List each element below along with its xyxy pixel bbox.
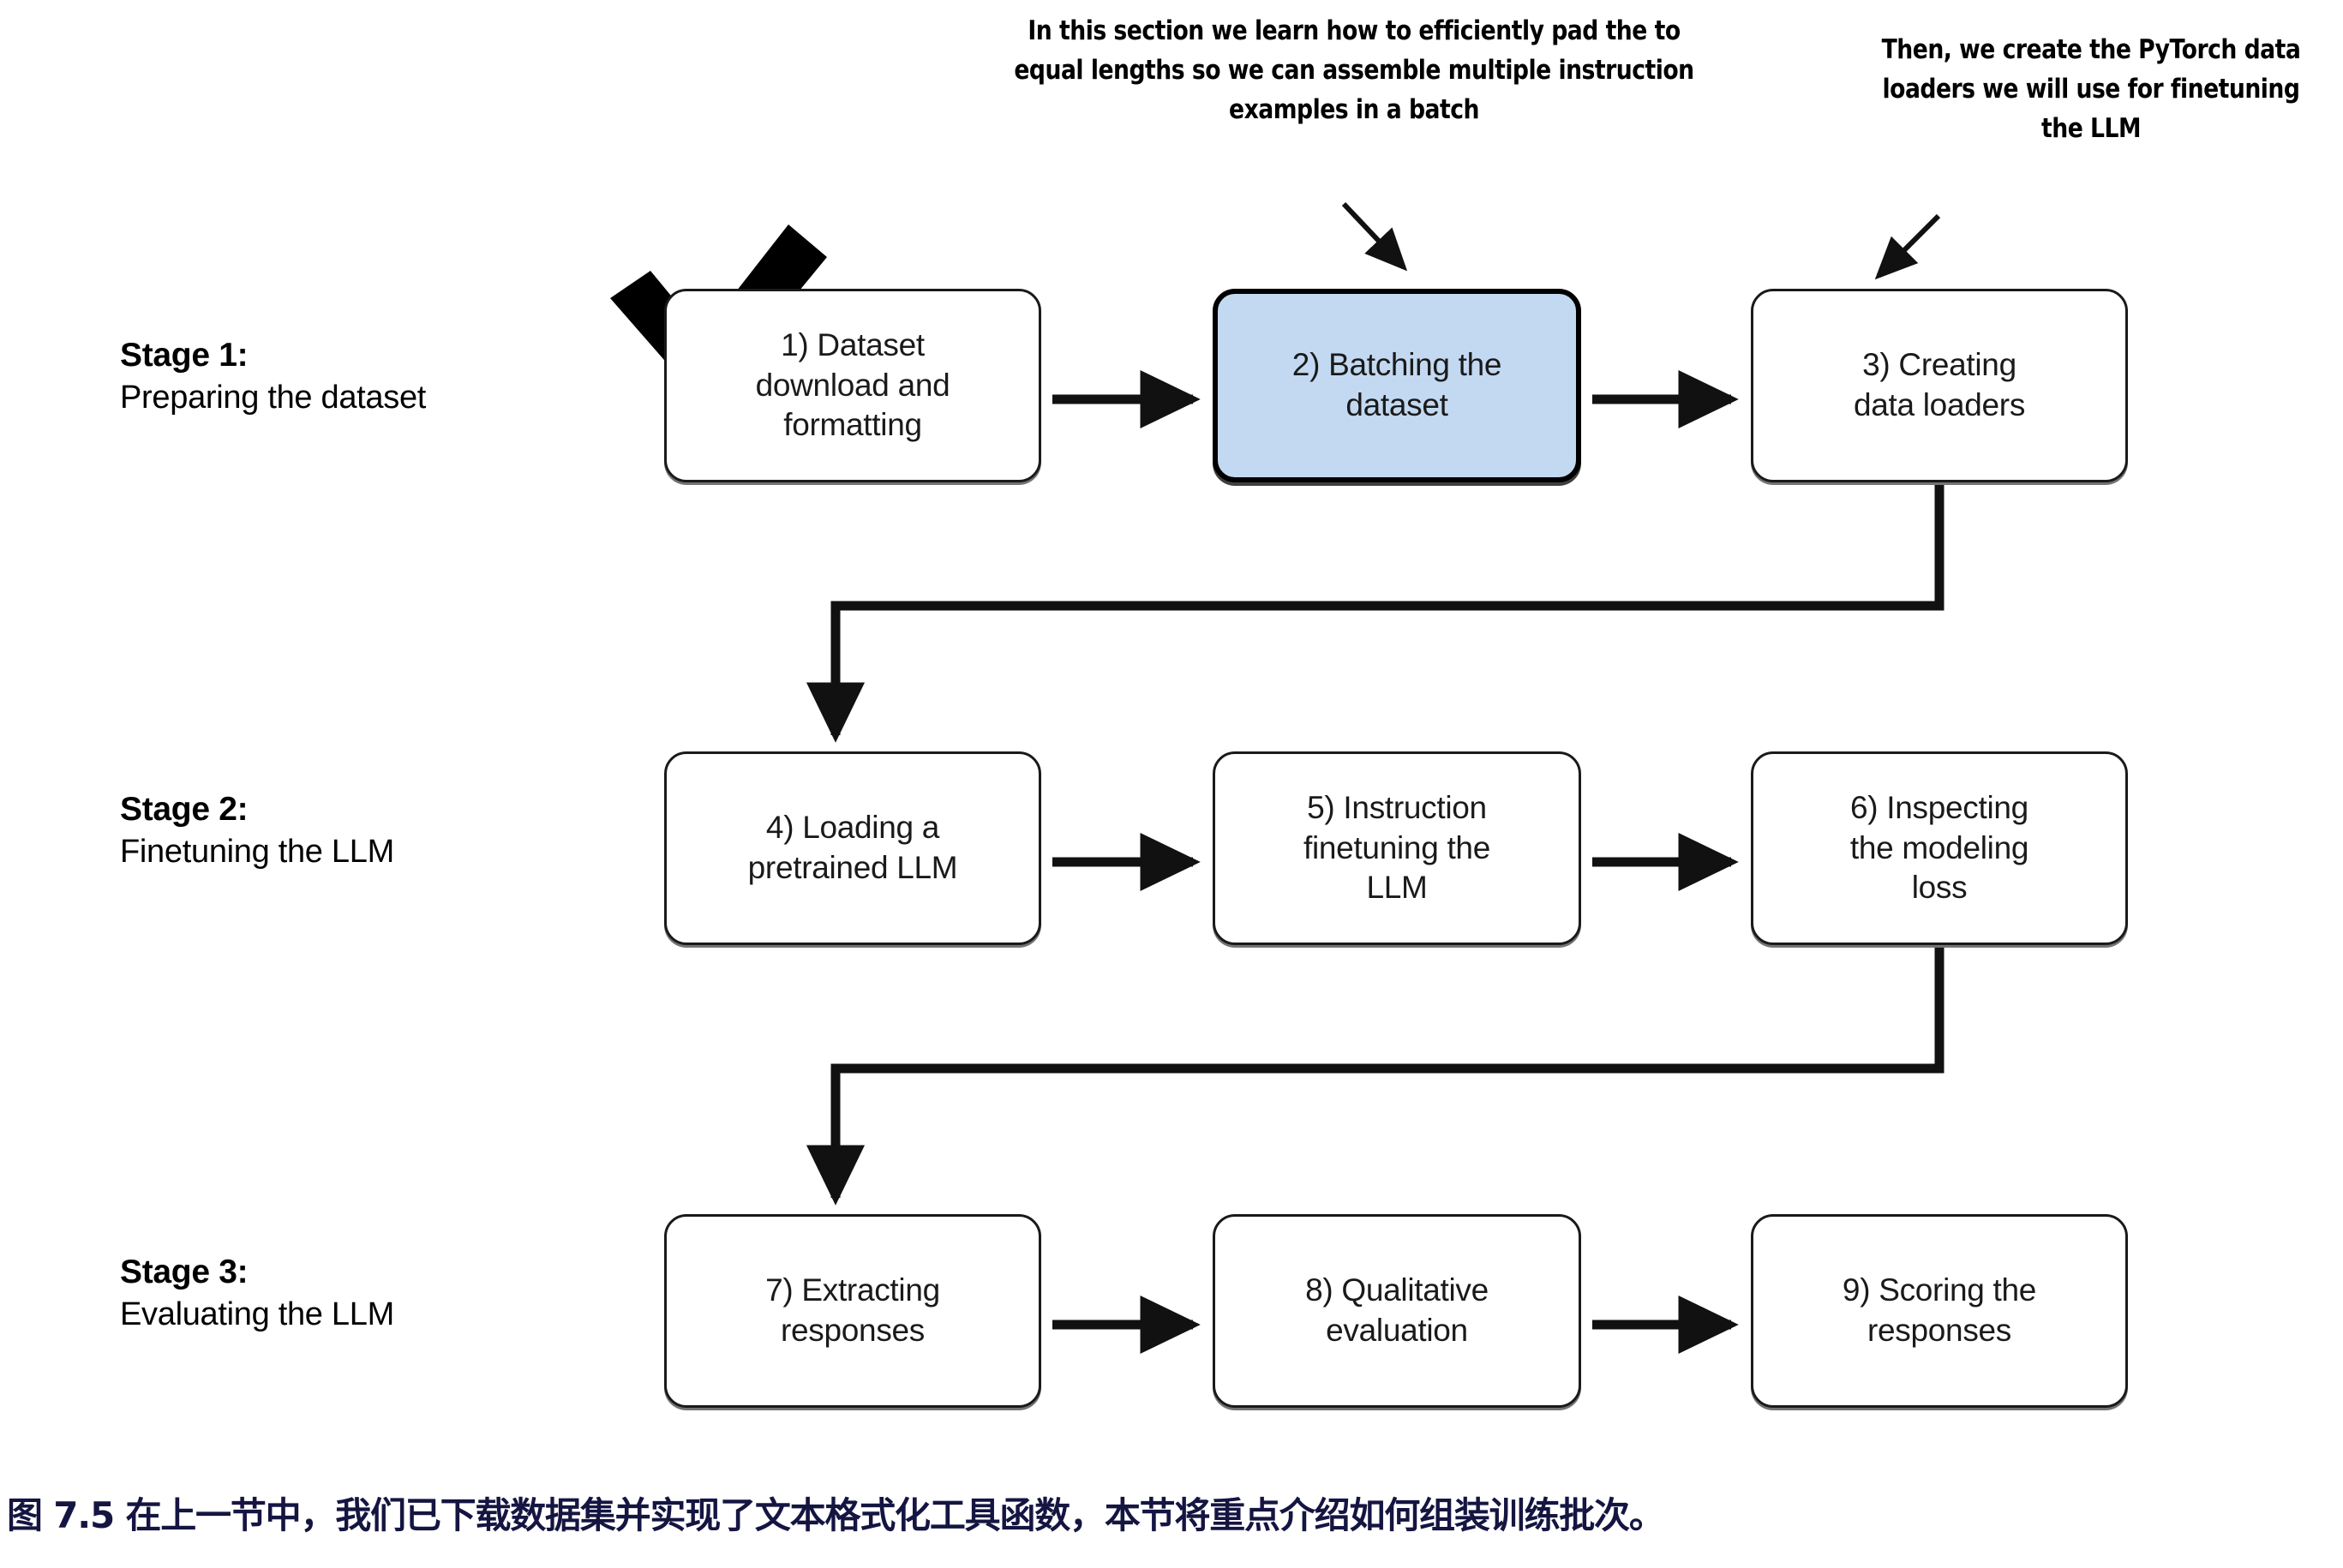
step-8-line-1: 8) Qualitative (1305, 1271, 1489, 1311)
annotation-dataloader-note: Then, we create the PyTorch data loaders… (1878, 31, 2305, 149)
step-5-line-1: 5) Instruction (1303, 788, 1490, 829)
step-2-line-2: dataset (1292, 386, 1501, 426)
step-7-line-1: 7) Extracting (765, 1271, 940, 1311)
step-1-line-2: download and (756, 366, 950, 406)
annotation-arrow-dataloader (1879, 216, 1939, 276)
step-3-line-1: 3) Creating (1854, 345, 2025, 386)
stage-3-subtitle: Evaluating the LLM (120, 1294, 668, 1336)
step-9-line-1: 9) Scoring the (1843, 1271, 2036, 1311)
step-5-line-2: finetuning the (1303, 829, 1490, 869)
step-4-line-2: pretrained LLM (748, 848, 958, 889)
stage-2-subtitle: Finetuning the LLM (120, 831, 668, 873)
step-1-line-1: 1) Dataset (756, 326, 950, 366)
step-1-line-3: formatting (756, 405, 950, 446)
annotation-pad-note: In this section we learn how to efficien… (1011, 12, 1697, 130)
connector-step3-to-step4 (836, 485, 1939, 735)
step-6-line-3: loss (1850, 868, 2028, 908)
stage-label-2: Stage 2: Finetuning the LLM (120, 788, 668, 873)
stage-2-title: Stage 2: (120, 788, 668, 831)
step-3-line-2: data loaders (1854, 386, 2025, 426)
step-box-6-inspecting-the-modeling-loss[interactable]: 6) Inspecting the modeling loss (1751, 751, 2128, 945)
annotation-arrow-pad (1344, 204, 1404, 267)
step-7-line-2: responses (765, 1311, 940, 1351)
stage-label-1: Stage 1: Preparing the dataset (120, 334, 668, 419)
connector-step6-to-step7 (836, 948, 1939, 1198)
stage-label-3: Stage 3: Evaluating the LLM (120, 1251, 668, 1336)
step-5-line-3: LLM (1303, 868, 1490, 908)
step-8-line-2: evaluation (1305, 1311, 1489, 1351)
step-box-4-loading-a-pretrained-llm[interactable]: 4) Loading a pretrained LLM (664, 751, 1041, 945)
step-box-2-batching-the-dataset[interactable]: 2) Batching the dataset (1213, 289, 1581, 482)
figure-caption: 图 7.5 在上一节中，我们已下载数据集并实现了文本格式化工具函数，本节将重点介… (7, 1494, 2338, 1537)
step-6-line-1: 6) Inspecting (1850, 788, 2028, 829)
step-box-1-dataset-download-and-formatting[interactable]: 1) Dataset download and formatting (664, 289, 1041, 482)
figure-canvas: In this section we learn how to efficien… (0, 0, 2343, 1568)
stage-1-title: Stage 1: (120, 334, 668, 377)
stage-3-title: Stage 3: (120, 1251, 668, 1294)
step-6-line-2: the modeling (1850, 829, 2028, 869)
step-box-9-scoring-the-responses[interactable]: 9) Scoring the responses (1751, 1214, 2128, 1408)
step-4-line-1: 4) Loading a (748, 808, 958, 848)
stage-1-subtitle: Preparing the dataset (120, 377, 668, 419)
step-box-8-qualitative-evaluation[interactable]: 8) Qualitative evaluation (1213, 1214, 1581, 1408)
step-box-7-extracting-responses[interactable]: 7) Extracting responses (664, 1214, 1041, 1408)
step-box-3-creating-data-loaders[interactable]: 3) Creating data loaders (1751, 289, 2128, 482)
step-box-5-instruction-finetuning-the-llm[interactable]: 5) Instruction finetuning the LLM (1213, 751, 1581, 945)
step-2-line-1: 2) Batching the (1292, 345, 1501, 386)
step-9-line-2: responses (1843, 1311, 2036, 1351)
